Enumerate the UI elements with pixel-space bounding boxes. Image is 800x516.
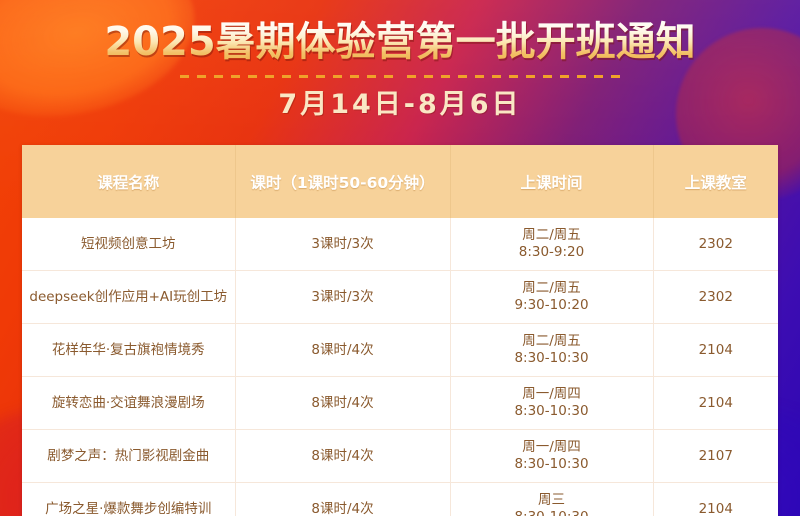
table-header: 课程名称 课时（1课时50-60分钟） 上课时间 上课教室 <box>22 145 778 218</box>
cell-classroom: 2104 <box>653 483 778 516</box>
course-schedule-table: 课程名称 课时（1课时50-60分钟） 上课时间 上课教室 短视频创意工坊 3课… <box>22 145 778 516</box>
cell-course-name: 花样年华·复古旗袍情境秀 <box>22 324 235 377</box>
cell-classroom: 2107 <box>653 430 778 483</box>
cell-class-time: 周二/周五 9:30-10:20 <box>450 271 653 324</box>
cell-classroom: 2104 <box>653 377 778 430</box>
cell-class-span: 8:30-9:20 <box>455 244 649 261</box>
cell-class-time: 周二/周五 8:30-9:20 <box>450 218 653 271</box>
cell-class-time: 周一/周四 8:30-10:30 <box>450 430 653 483</box>
cell-course-name: 广场之星·爆款舞步创编特训 <box>22 483 235 516</box>
dashed-divider-right <box>407 75 620 78</box>
column-header-class-time: 上课时间 <box>450 145 653 218</box>
table-row: 短视频创意工坊 3课时/3次 周二/周五 8:30-9:20 2302 <box>22 218 778 271</box>
cell-course-name: 短视频创意工坊 <box>22 218 235 271</box>
cell-class-days: 周一/周四 <box>455 386 649 403</box>
cell-class-days: 周二/周五 <box>455 227 649 244</box>
cell-classroom: 2302 <box>653 271 778 324</box>
column-header-class-hours: 课时（1课时50-60分钟） <box>235 145 450 218</box>
table-row: 剧梦之声：热门影视剧金曲 8课时/4次 周一/周四 8:30-10:30 210… <box>22 430 778 483</box>
date-range-subtitle: 7月14日-8月6日 <box>0 86 800 124</box>
cell-class-hours: 3课时/3次 <box>235 271 450 324</box>
cell-class-days: 周一/周四 <box>455 439 649 456</box>
cell-class-span: 8:30-10:30 <box>455 403 649 420</box>
cell-class-hours: 8课时/4次 <box>235 430 450 483</box>
column-header-classroom: 上课教室 <box>653 145 778 218</box>
cell-class-span: 9:30-10:20 <box>455 297 649 314</box>
cell-class-hours: 8课时/4次 <box>235 324 450 377</box>
table-row: 旋转恋曲·交谊舞浪漫剧场 8课时/4次 周一/周四 8:30-10:30 210… <box>22 377 778 430</box>
cell-class-days: 周三 <box>455 492 649 509</box>
poster-header: 2025暑期体验营第一批开班通知 7月14日-8月6日 <box>0 0 800 145</box>
cell-course-name: deepseek创作应用+AI玩创工坊 <box>22 271 235 324</box>
cell-class-days: 周二/周五 <box>455 280 649 297</box>
table-body: 短视频创意工坊 3课时/3次 周二/周五 8:30-9:20 2302 deep… <box>22 218 778 516</box>
dashed-divider <box>0 70 800 82</box>
cell-class-time: 周一/周四 8:30-10:30 <box>450 377 653 430</box>
cell-course-name: 剧梦之声：热门影视剧金曲 <box>22 430 235 483</box>
cell-class-time: 周二/周五 8:30-10:30 <box>450 324 653 377</box>
page-title: 2025暑期体验营第一批开班通知 <box>0 18 800 66</box>
cell-class-span: 8:30-10:30 <box>455 350 649 367</box>
cell-class-span: 8:30-10:30 <box>455 456 649 473</box>
cell-class-days: 周二/周五 <box>455 333 649 350</box>
cell-class-hours: 8课时/4次 <box>235 483 450 516</box>
cell-course-name: 旋转恋曲·交谊舞浪漫剧场 <box>22 377 235 430</box>
cell-class-time: 周三 8:30-10:30 <box>450 483 653 516</box>
promo-poster: 2025暑期体验营第一批开班通知 7月14日-8月6日 课程名称 课时（1课时5… <box>0 0 800 516</box>
cell-classroom: 2302 <box>653 218 778 271</box>
cell-class-hours: 8课时/4次 <box>235 377 450 430</box>
table-header-row: 课程名称 课时（1课时50-60分钟） 上课时间 上课教室 <box>22 145 778 218</box>
cell-class-span: 8:30-10:30 <box>455 509 649 516</box>
column-header-course-name: 课程名称 <box>22 145 235 218</box>
dashed-divider-left <box>180 75 393 78</box>
table-row: 广场之星·爆款舞步创编特训 8课时/4次 周三 8:30-10:30 2104 <box>22 483 778 516</box>
table-row: deepseek创作应用+AI玩创工坊 3课时/3次 周二/周五 9:30-10… <box>22 271 778 324</box>
cell-classroom: 2104 <box>653 324 778 377</box>
cell-class-hours: 3课时/3次 <box>235 218 450 271</box>
table-row: 花样年华·复古旗袍情境秀 8课时/4次 周二/周五 8:30-10:30 210… <box>22 324 778 377</box>
